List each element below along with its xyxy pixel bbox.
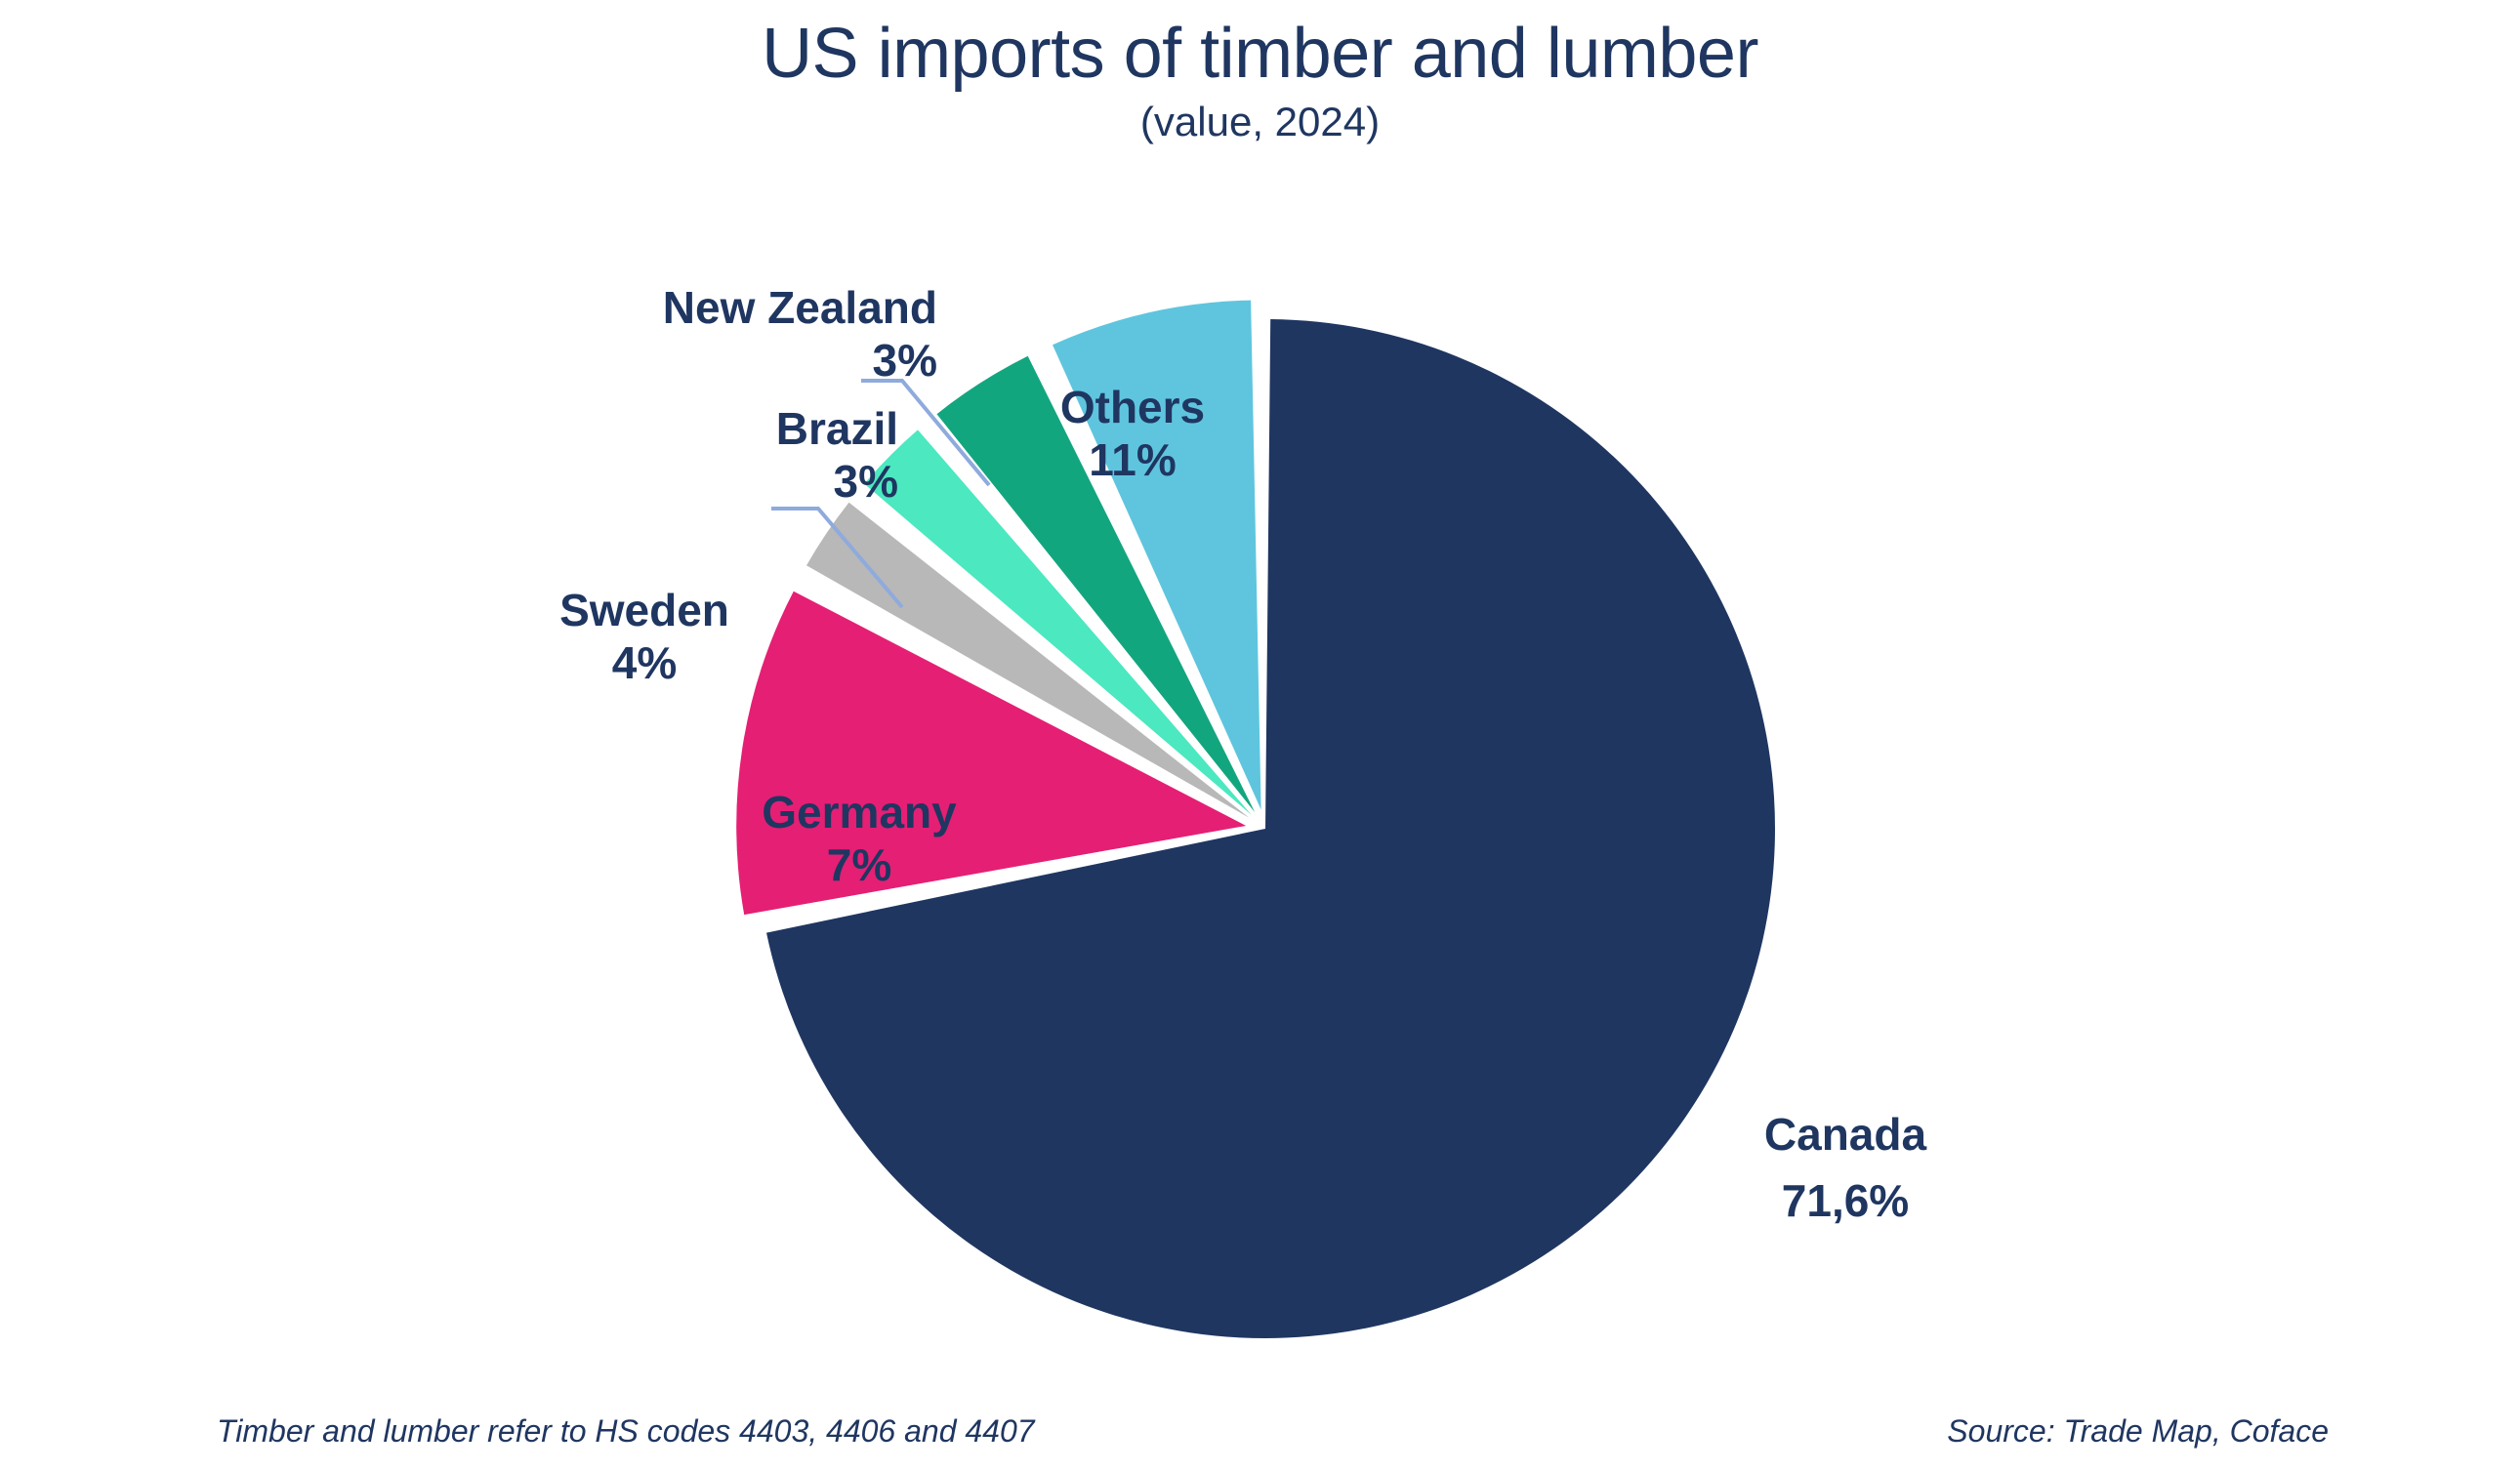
slice-label-sweden-name: Sweden — [508, 584, 781, 636]
slice-label-sweden-value: 4% — [508, 636, 781, 689]
footnote-source: Source: Trade Map, Coface — [1947, 1413, 2329, 1450]
slice-label-others: Others 11% — [1006, 381, 1260, 487]
slice-label-sweden: Sweden 4% — [508, 584, 781, 690]
slice-label-new-zealand-name: New Zealand — [547, 281, 937, 334]
slice-label-canada: Canada 71,6% — [1718, 1108, 1972, 1228]
slice-label-brazil: Brazil 3% — [547, 402, 898, 509]
pie-chart-figure: US imports of timber and lumber (value, … — [0, 0, 2520, 1471]
slice-label-germany-value: 7% — [723, 838, 996, 891]
slice-label-germany-name: Germany — [723, 786, 996, 838]
slice-label-others-value: 11% — [1006, 433, 1260, 486]
slice-label-brazil-value: 3% — [547, 455, 898, 508]
slice-label-canada-name: Canada — [1718, 1108, 1972, 1161]
slice-label-others-name: Others — [1006, 381, 1260, 433]
footnote-definition: Timber and lumber refer to HS codes 4403… — [217, 1413, 1035, 1450]
slice-label-brazil-name: Brazil — [547, 402, 898, 455]
slice-label-new-zealand: New Zealand 3% — [547, 281, 937, 388]
slice-label-canada-value: 71,6% — [1718, 1174, 1972, 1227]
slice-label-new-zealand-value: 3% — [547, 334, 937, 387]
pie-graphic — [0, 0, 2520, 1471]
slice-label-germany: Germany 7% — [723, 786, 996, 892]
